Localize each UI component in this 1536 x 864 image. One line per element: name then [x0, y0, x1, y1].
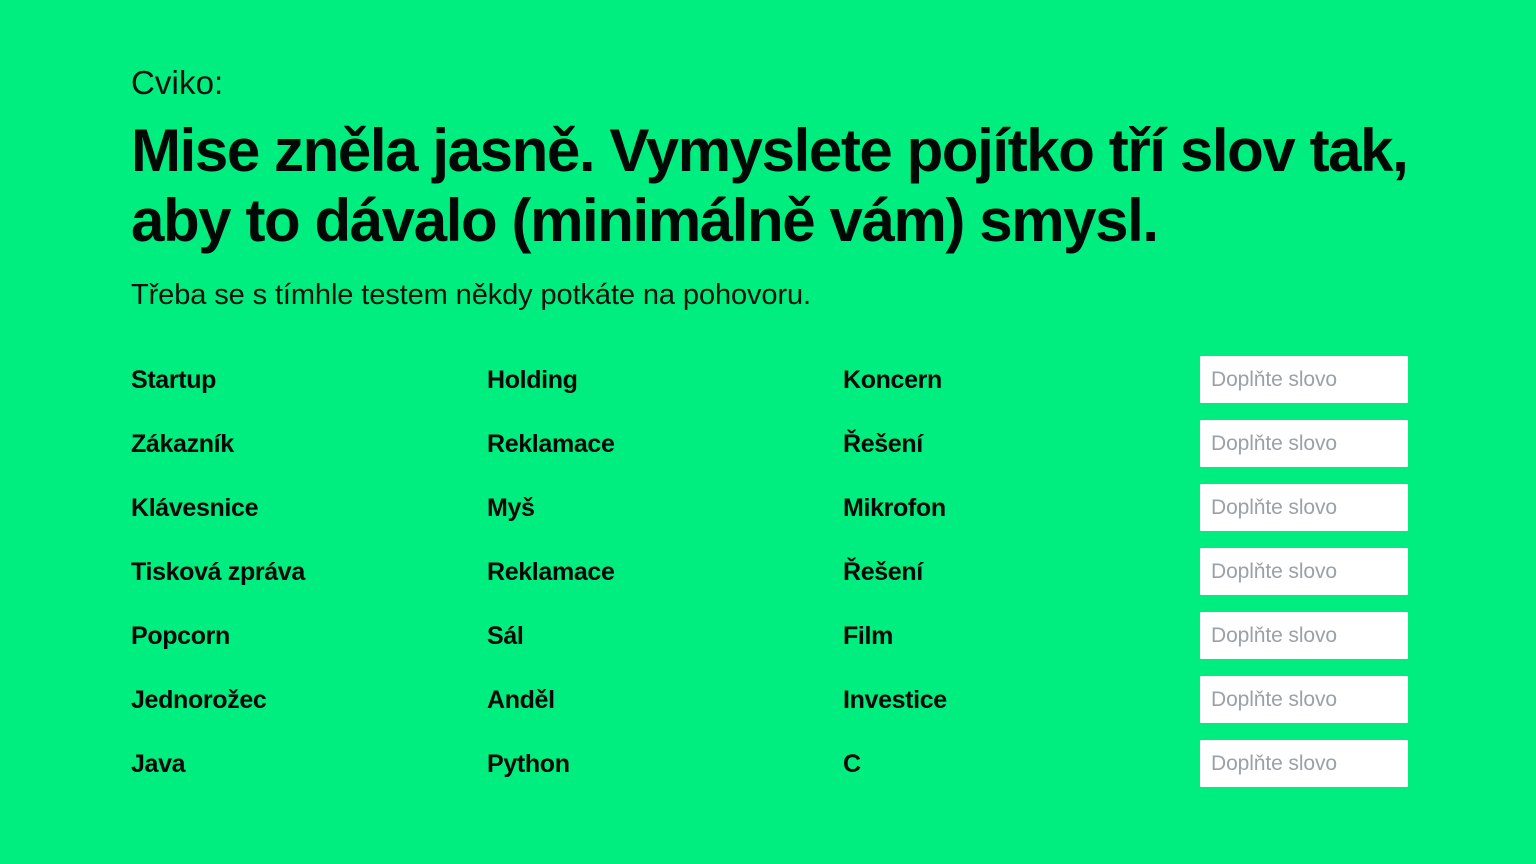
word-cue-3: Investice	[843, 678, 1193, 722]
word-cue-1: Java	[131, 742, 481, 786]
eyebrow-label: Cviko:	[131, 64, 1421, 102]
word-cue-3: Mikrofon	[843, 486, 1193, 530]
word-cue-2: Python	[487, 742, 837, 786]
word-cue-2: Myš	[487, 486, 837, 530]
answer-input[interactable]	[1200, 548, 1408, 595]
word-cue-1: Startup	[131, 358, 481, 402]
word-cue-2: Reklamace	[487, 550, 837, 594]
table-row: ZákazníkReklamaceŘešení	[0, 422, 1536, 486]
word-cue-2: Anděl	[487, 678, 837, 722]
answer-input[interactable]	[1200, 676, 1408, 723]
word-cue-1: Popcorn	[131, 614, 481, 658]
word-cue-3: C	[843, 742, 1193, 786]
word-cue-2: Holding	[487, 358, 837, 402]
word-association-grid: StartupHoldingKoncernZákazníkReklamaceŘe…	[0, 358, 1536, 806]
word-cue-2: Reklamace	[487, 422, 837, 466]
table-row: JednorožecAndělInvestice	[0, 678, 1536, 742]
word-cue-3: Film	[843, 614, 1193, 658]
word-cue-3: Koncern	[843, 358, 1193, 402]
table-row: KlávesniceMyšMikrofon	[0, 486, 1536, 550]
slide-root: Cviko: Mise zněla jasně. Vymyslete pojít…	[0, 0, 1536, 864]
answer-input[interactable]	[1200, 356, 1408, 403]
page-title: Mise zněla jasně. Vymyslete pojítko tří …	[131, 116, 1416, 256]
word-cue-1: Zákazník	[131, 422, 481, 466]
subtitle: Třeba se s tímhle testem někdy potkáte n…	[131, 278, 1421, 313]
answer-input[interactable]	[1200, 420, 1408, 467]
table-row: Tisková zprávaReklamaceŘešení	[0, 550, 1536, 614]
word-cue-1: Tisková zpráva	[131, 550, 481, 594]
word-cue-3: Řešení	[843, 550, 1193, 594]
table-row: StartupHoldingKoncern	[0, 358, 1536, 422]
answer-input[interactable]	[1200, 612, 1408, 659]
word-cue-2: Sál	[487, 614, 837, 658]
answer-input[interactable]	[1200, 484, 1408, 531]
table-row: JavaPythonC	[0, 742, 1536, 806]
answer-input[interactable]	[1200, 740, 1408, 787]
word-cue-1: Klávesnice	[131, 486, 481, 530]
word-cue-3: Řešení	[843, 422, 1193, 466]
slide-header: Cviko: Mise zněla jasně. Vymyslete pojít…	[131, 64, 1421, 313]
word-cue-1: Jednorožec	[131, 678, 481, 722]
table-row: PopcornSálFilm	[0, 614, 1536, 678]
